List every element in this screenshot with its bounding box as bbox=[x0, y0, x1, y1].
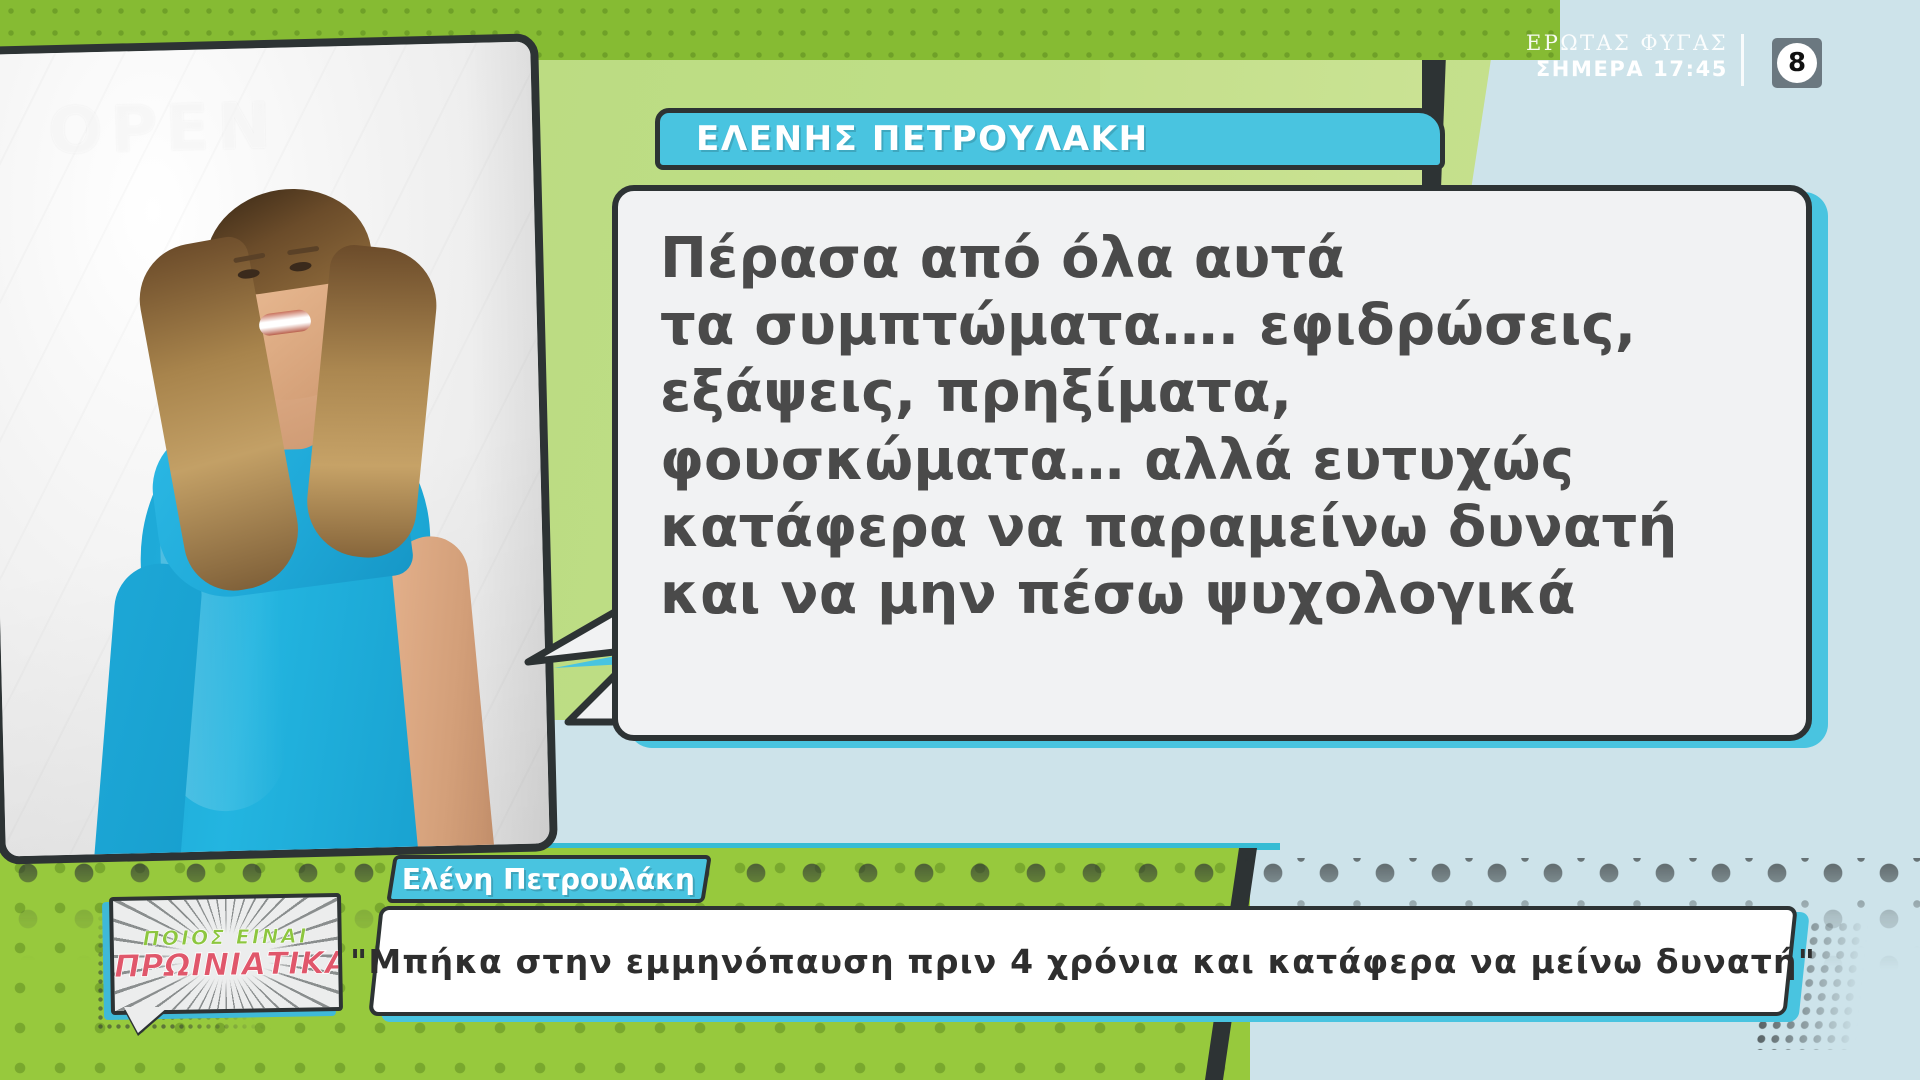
guest-name-banner-text: ΕΛΕΝΗΣ ΠΕΤΡΟΥΛΑΚΗ bbox=[696, 119, 1149, 159]
promo-block: ΕΡΩΤΑΣ ΦΥΓΑΣ ΣΗΜΕΡΑ 17:45 bbox=[1526, 32, 1728, 81]
lower-third-headline-text: "Μπήκα στην εμμηνόπαυση πριν 4 χρόνια κα… bbox=[350, 942, 1816, 981]
lower-third-name-text: Ελένη Πετρουλάκη bbox=[402, 863, 695, 896]
quote-line: και να μην πέσω ψυχολογικά bbox=[660, 561, 1766, 628]
guest-name-banner: ΕΛΕΝΗΣ ΠΕΤΡΟΥΛΑΚΗ bbox=[655, 108, 1445, 170]
person-figure bbox=[38, 94, 527, 856]
show-logo-line2: ΠΡΩΙΝΙΑΤΙΚΑ; bbox=[114, 945, 339, 985]
quote-line: τα συμπτώματα…. εφιδρώσεις, bbox=[660, 292, 1766, 359]
quote-line: φουσκώματα… αλλά ευτυχώς bbox=[660, 427, 1766, 494]
show-logo: ΠΟΙΟΣ ΕΙΝΑΙ ΠΡΩΙΝΙΑΤΙΚΑ; bbox=[110, 895, 342, 1013]
channel-number: 8 bbox=[1777, 43, 1817, 83]
broadcast-graphic: ΕΡΩΤΑΣ ΦΥΓΑΣ ΣΗΜΕΡΑ 17:45 8 OPEN bbox=[0, 0, 1920, 1080]
quote-card: Πέρασα από όλα αυτά τα συμπτώματα…. εφιδ… bbox=[612, 185, 1812, 741]
promo-airtime: ΣΗΜΕΡΑ 17:45 bbox=[1526, 58, 1728, 82]
lower-third-name-tag: Ελένη Πετρουλάκη bbox=[386, 855, 712, 903]
lower-third-headline-bar: "Μπήκα στην εμμηνόπαυση πριν 4 χρόνια κα… bbox=[368, 906, 1798, 1016]
channel-8-logo-icon: 8 bbox=[1772, 38, 1822, 88]
logo-bubble-tail-icon bbox=[124, 1007, 168, 1033]
guest-photo: OPEN bbox=[0, 41, 550, 856]
logo-speech-bubble: ΠΟΙΟΣ ΕΙΝΑΙ ΠΡΩΙΝΙΑΤΙΚΑ; bbox=[109, 893, 343, 1015]
quote-line: Πέρασα από όλα αυτά bbox=[660, 225, 1766, 292]
quote-line: εξάψεις, πρηξίματα, bbox=[660, 359, 1766, 426]
quote-line: κατάφερα να παραμείνω δυνατή bbox=[660, 494, 1766, 561]
guest-photo-panel: OPEN bbox=[0, 33, 558, 864]
promo-divider-rule bbox=[1741, 34, 1744, 86]
promo-show-title: ΕΡΩΤΑΣ ΦΥΓΑΣ bbox=[1526, 32, 1728, 56]
